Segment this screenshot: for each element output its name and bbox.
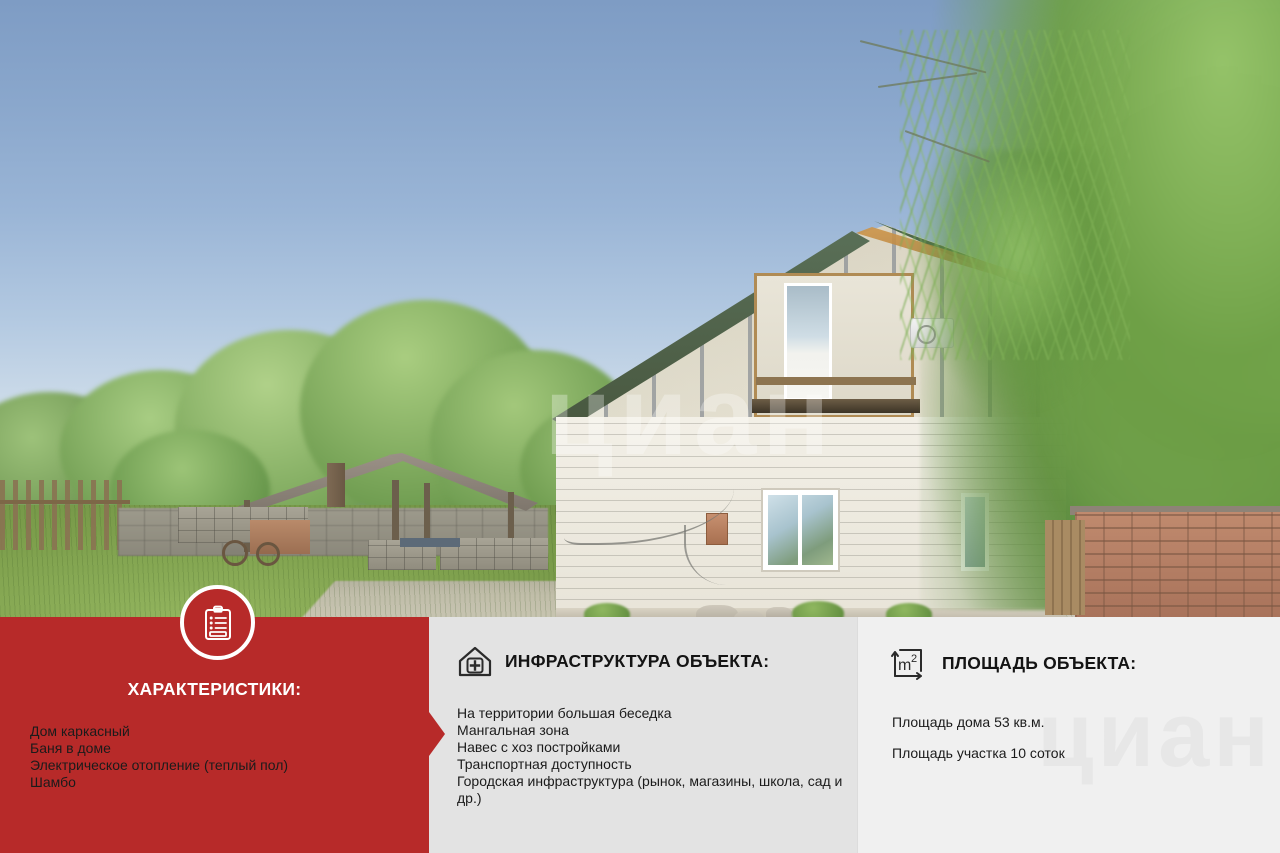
list-item: Мангальная зона [457,722,849,739]
gazebo-bench [400,538,460,547]
dormer [754,273,914,418]
characteristics-title: ХАРАКТЕРИСТИКИ: [0,679,429,700]
list-item: Дом каркасный [30,723,410,740]
panel-infrastructure: ИНФРАСТРУКТУРА ОБЪЕКТА: На территории бо… [429,617,857,853]
wooden-fence [0,480,130,550]
list-item: Баня в доме [30,740,410,757]
panel-area: m 2 ПЛОЩАДЬ ОБЪЕКТА: Площадь дома 53 кв.… [857,617,1280,853]
infrastructure-title: ИНФРАСТРУКТУРА ОБЪЕКТА: [505,651,769,672]
square-meters-icon: m 2 [888,645,928,681]
fence-rail [0,500,130,504]
list-item: Шамбо [30,774,410,791]
list-item: На территории большая беседка [457,705,849,722]
list-item: Площадь участка 10 соток [892,738,1262,769]
balcony-rail [756,377,916,385]
wooden-gate [1045,520,1085,615]
list-item: Городская инфраструктура (рынок, магазин… [457,773,849,807]
area-title: ПЛОЩАДЬ ОБЪЕКТА: [942,653,1136,674]
characteristics-list: Дом каркасный Баня в доме Электрическое … [30,723,410,791]
area-list: Площадь дома 53 кв.м. Площадь участка 10… [892,707,1262,769]
brick-wall [1075,512,1280,620]
svg-text:m: m [898,657,911,674]
infrastructure-header: ИНФРАСТРУКТУРА ОБЪЕКТА: [457,645,769,678]
cart-wheel [256,542,280,566]
list-item: Площадь дома 53 кв.м. [892,707,1262,738]
clipboard-icon [203,605,233,641]
infrastructure-list: На территории большая беседка Мангальная… [457,705,849,807]
window-mullion [798,495,802,565]
area-header: m 2 ПЛОЩАДЬ ОБЪЕКТА: [888,645,1136,681]
cart-wheel [222,540,248,566]
list-item: Электрическое отопление (теплый пол) [30,757,410,774]
balcony-sill [752,399,920,413]
clipboard-badge [180,585,255,660]
house-plus-icon [457,645,493,678]
info-panels: ХАРАКТЕРИСТИКИ: Дом каркасный Баня в дом… [0,617,1280,853]
list-item: Навес с хоз постройками [457,739,849,756]
panel-divider [857,617,858,853]
svg-text:2: 2 [911,653,917,665]
window [763,490,838,570]
property-photo: циан [0,0,1280,620]
listing-card: циан ХАРАКТЕРИСТИКИ: Дом каркасный Баня … [0,0,1280,853]
gazebo-chimney [327,463,345,507]
list-item: Транспортная доступность [457,756,849,773]
